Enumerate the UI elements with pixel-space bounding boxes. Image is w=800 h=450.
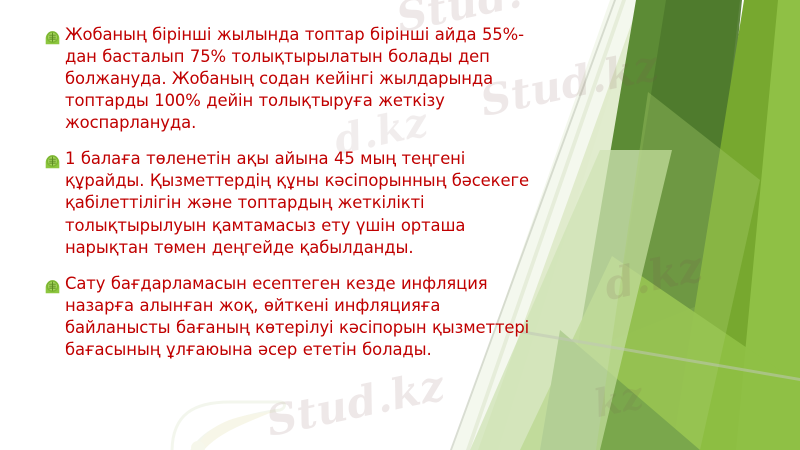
green-coin-bullet-icon <box>44 278 61 295</box>
bullet-paragraph-1: Жобаның бірінші жылында топтар бірінші а… <box>65 24 550 134</box>
watermark-stud-kz: d.kz <box>600 241 707 310</box>
list-item: Жобаның бірінші жылында топтар бірінші а… <box>44 24 550 134</box>
bullet-paragraph-3: Сату бағдарламасын есептеген кезде инфля… <box>65 273 550 361</box>
list-item: 1 балаға төленетін ақы айына 45 мың теңг… <box>44 148 550 258</box>
watermark-stud-kz: kz <box>590 372 647 426</box>
slide-body-text: Жобаның бірінші жылында топтар бірінші а… <box>44 24 550 375</box>
list-item: Сату бағдарламасын есептеген кезде инфля… <box>44 273 550 361</box>
green-coin-bullet-icon <box>44 153 61 170</box>
green-coin-bullet-icon <box>44 29 61 46</box>
presentation-slide: Stud. Stud.kz d.kz d.kz Stud.kz kz Жобан… <box>0 0 800 450</box>
bullet-paragraph-2: 1 балаға төленетін ақы айына 45 мың теңг… <box>65 148 550 258</box>
